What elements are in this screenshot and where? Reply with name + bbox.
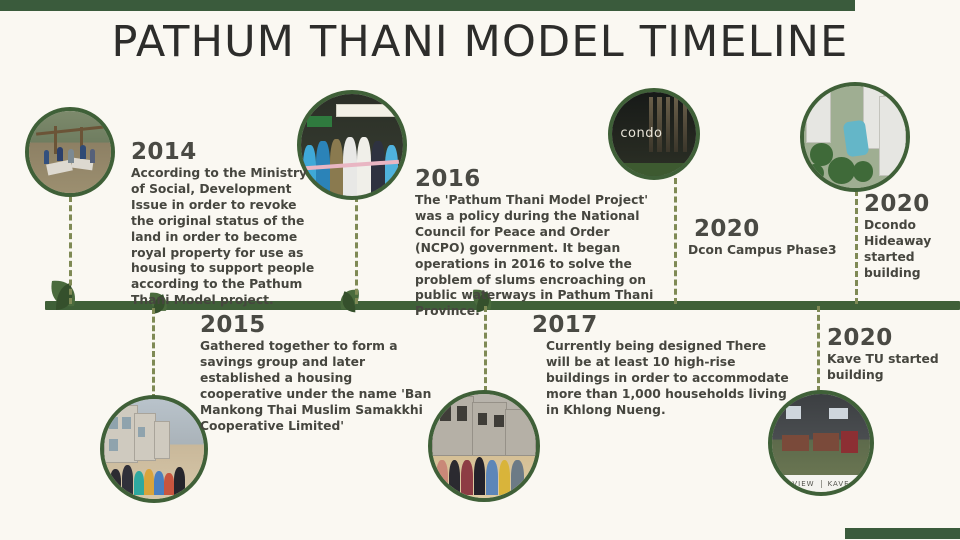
timeline-entry-2014: 2014 According to the Ministry of Social… <box>131 140 316 309</box>
entry-body-2017: Currently being designed There will be a… <box>546 339 790 418</box>
connector-2016 <box>355 196 358 304</box>
bottom-banner-bar <box>845 528 960 539</box>
connector-2015 <box>152 308 155 400</box>
top-banner-bar <box>0 0 855 11</box>
connector-2020-dcon <box>674 178 677 304</box>
photo-brand-right: KAVE <box>828 480 850 488</box>
timeline-entry-2017: 2017 Currently being designed There will… <box>532 313 790 419</box>
timeline-entry-2016: 2016 The 'Pathum Thani Model Project' wa… <box>415 167 660 320</box>
photo-brand-strip: VIEW KAVE <box>772 475 870 492</box>
photo-logo-text: condo <box>620 126 662 141</box>
photo-2020-dcondo-hideaway <box>800 82 910 192</box>
entry-body-2020-kave: Kave TU started building <box>827 352 942 384</box>
connector-2014 <box>69 196 72 304</box>
entry-year-2020-dcon: 2020 <box>694 217 838 242</box>
timeline-entry-2020-dcon: 2020 Dcon Campus Phase3 <box>688 217 838 259</box>
photo-2017-site-inspection <box>428 390 540 502</box>
entry-body-2016: The 'Pathum Thani Model Project' was a p… <box>415 193 660 320</box>
entry-body-2015: Gathered together to form a savings grou… <box>200 339 438 434</box>
photo-brand-left: VIEW <box>792 480 814 488</box>
connector-2020-kave <box>817 306 820 392</box>
photo-2014-demolition-site <box>25 107 115 197</box>
photo-2015-community-residents <box>100 395 208 503</box>
entry-year-2015: 2015 <box>200 313 438 338</box>
brand-separator <box>821 480 822 488</box>
timeline-entry-2015: 2015 Gathered together to form a savings… <box>200 313 438 434</box>
entry-body-2014: According to the Ministry of Social, Dev… <box>131 166 316 309</box>
entry-year-2020-kave: 2020 <box>827 326 942 351</box>
entry-year-2016: 2016 <box>415 167 660 192</box>
entry-body-2020-dcon: Dcon Campus Phase3 <box>688 243 838 259</box>
infographic-canvas: PATHUM THANI MODEL TIMELINE <box>0 0 960 540</box>
entry-year-2014: 2014 <box>131 140 316 165</box>
timeline-entry-2020-kave: 2020 Kave TU started building <box>827 326 942 384</box>
entry-body-2020-dcondo: Dcondo Hideaway started building <box>864 218 960 281</box>
leaf-icon <box>44 275 90 321</box>
entry-year-2020-dcondo: 2020 <box>864 192 960 217</box>
timeline-entry-2020-dcondo: 2020 Dcondo Hideaway started building <box>864 192 960 282</box>
entry-year-2017: 2017 <box>532 313 790 338</box>
page-title: PATHUM THANI MODEL TIMELINE <box>0 20 960 65</box>
